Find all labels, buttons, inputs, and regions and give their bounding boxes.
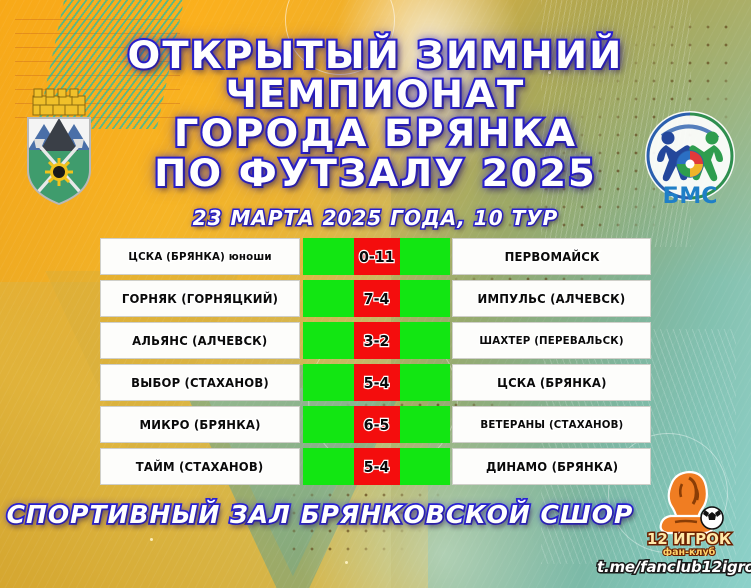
home-team-box: ЦСКА (БРЯНКА) юноши (100, 238, 300, 275)
score-box: 3-2 (354, 322, 400, 359)
away-team-box: ВЕТЕРАНЫ (СТАХАНОВ) (452, 406, 651, 443)
away-team-box: ШАХТЕР (ПЕРЕВАЛЬСК) (452, 322, 651, 359)
score-strip: 6-5 (303, 406, 451, 443)
home-team-box: АЛЬЯНС (АЛЧЕВСК) (100, 322, 300, 359)
poster-title-block: ОТКРЫТЫЙ ЗИМНИЙ ЧЕМПИОНАТ ГОРОДА БРЯНКА … (0, 36, 751, 193)
away-team-name: ВЕТЕРАНЫ (СТАХАНОВ) (480, 418, 623, 431)
title-line-2: ГОРОДА БРЯНКА (0, 114, 751, 153)
away-team-box: ЦСКА (БРЯНКА) (452, 364, 651, 401)
score-value: 5-4 (364, 458, 390, 476)
score-value: 6-5 (364, 416, 390, 434)
score-box: 5-4 (354, 448, 400, 485)
home-team-name: ГОРНЯК (ГОРНЯЦКИЙ) (122, 291, 278, 306)
score-box: 0-11 (354, 238, 400, 275)
away-team-name: ДИНАМО (БРЯНКА) (486, 459, 618, 474)
match-row: ЦСКА (БРЯНКА) юноши0-11ПЕРВОМАЙСК (100, 238, 651, 275)
venue-text: СПОРТИВНЫЙ ЗАЛ БРЯНКОВСКОЙ СШОР (0, 500, 640, 529)
score-box: 5-4 (354, 364, 400, 401)
away-team-box: ПЕРВОМАЙСК (452, 238, 651, 275)
poster-root: БМС ОТКРЫТЫЙ ЗИМНИЙ ЧЕМПИОНАТ ГОРОДА БРЯ… (0, 0, 751, 588)
match-row: АЛЬЯНС (АЛЧЕВСК)3-2ШАХТЕР (ПЕРЕВАЛЬСК) (100, 322, 651, 359)
away-team-name: ИМПУЛЬС (АЛЧЕВСК) (478, 291, 626, 306)
title-line-3: ПО ФУТЗАЛУ 2025 (0, 154, 751, 193)
match-row: МИКРО (БРЯНКА)6-5ВЕТЕРАНЫ (СТАХАНОВ) (100, 406, 651, 443)
home-team-box: ТАЙМ (СТАХАНОВ) (100, 448, 300, 485)
fox-subtitle: фан-клуб (663, 547, 716, 556)
home-team-name: АЛЬЯНС (АЛЧЕВСК) (132, 333, 267, 348)
away-team-name: ЦСКА (БРЯНКА) (497, 375, 606, 390)
home-team-name: ЦСКА (БРЯНКА) юноши (128, 250, 271, 263)
score-strip: 7-4 (303, 280, 451, 317)
match-row: ТАЙМ (СТАХАНОВ)5-4ДИНАМО (БРЯНКА) (100, 448, 651, 485)
score-box: 6-5 (354, 406, 400, 443)
home-team-box: ГОРНЯК (ГОРНЯЦКИЙ) (100, 280, 300, 317)
date-and-round: 23 МАРТА 2025 ГОДА, 10 ТУР (0, 206, 751, 230)
score-value: 5-4 (364, 374, 390, 392)
home-team-box: МИКРО (БРЯНКА) (100, 406, 300, 443)
match-row: ВЫБОР (СТАХАНОВ)5-4ЦСКА (БРЯНКА) (100, 364, 651, 401)
score-strip: 5-4 (303, 448, 451, 485)
title-line-1: ОТКРЫТЫЙ ЗИМНИЙ ЧЕМПИОНАТ (0, 36, 751, 114)
fox-title: 12 ИГРОК (647, 530, 732, 548)
score-box: 7-4 (354, 280, 400, 317)
score-strip: 3-2 (303, 322, 451, 359)
score-value: 3-2 (364, 332, 390, 350)
score-value: 7-4 (364, 290, 390, 308)
home-team-box: ВЫБОР (СТАХАНОВ) (100, 364, 300, 401)
away-team-box: ДИНАМО (БРЯНКА) (452, 448, 651, 485)
home-team-name: МИКРО (БРЯНКА) (139, 417, 260, 432)
away-team-name: ПЕРВОМАЙСК (504, 249, 599, 264)
fanclub-fox-logo: 12 ИГРОК фан-клуб (645, 468, 741, 556)
score-strip: 0-11 (303, 238, 451, 275)
match-row: ГОРНЯК (ГОРНЯЦКИЙ)7-4ИМПУЛЬС (АЛЧЕВСК) (100, 280, 651, 317)
home-team-name: ТАЙМ (СТАХАНОВ) (136, 459, 264, 474)
match-results-table: ЦСКА (БРЯНКА) юноши0-11ПЕРВОМАЙСКГОРНЯК … (100, 238, 651, 490)
home-team-name: ВЫБОР (СТАХАНОВ) (131, 375, 269, 390)
score-strip: 5-4 (303, 364, 451, 401)
away-team-box: ИМПУЛЬС (АЛЧЕВСК) (452, 280, 651, 317)
telegram-link[interactable]: t.me/fanclub12igrok (597, 558, 747, 576)
away-team-name: ШАХТЕР (ПЕРЕВАЛЬСК) (480, 334, 624, 347)
score-value: 0-11 (359, 248, 395, 266)
